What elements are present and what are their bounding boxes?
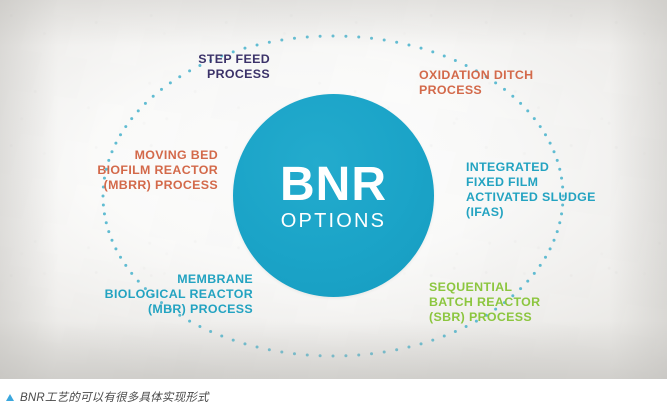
label-step-feed-process: STEP FEED PROCESS xyxy=(198,52,270,82)
center-circle: BNR OPTIONS xyxy=(233,94,434,297)
bnr-options-infographic: BNR OPTIONS STEP FEED PROCESS OXIDATION … xyxy=(0,0,667,379)
slide-image: BNR OPTIONS STEP FEED PROCESS OXIDATION … xyxy=(0,0,667,415)
caption-bar: BNR工艺的可以有很多具体实现形式 xyxy=(0,379,667,415)
label-integrated-fixed-film-activated-sludge-process: INTEGRATED FIXED FILM ACTIVATED SLUDGE (… xyxy=(466,160,596,221)
bnr-subtitle: OPTIONS xyxy=(281,211,386,231)
bnr-title: BNR xyxy=(280,161,387,209)
label-membrane-biological-reactor-process: MEMBRANE BIOLOGICAL REACTOR (MBR) PROCES… xyxy=(105,272,253,317)
triangle-up-icon xyxy=(6,394,14,401)
caption-text: BNR工艺的可以有很多具体实现形式 xyxy=(20,389,209,405)
label-moving-bed-biofilm-reactor-process: MOVING BED BIOFILM REACTOR (MBRR) PROCES… xyxy=(97,148,218,193)
label-oxidation-ditch-process: OXIDATION DITCH PROCESS xyxy=(419,68,533,98)
label-sequential-batch-reactor-process: SEQUENTIAL BATCH REACTOR (SBR) PROCESS xyxy=(429,280,540,325)
